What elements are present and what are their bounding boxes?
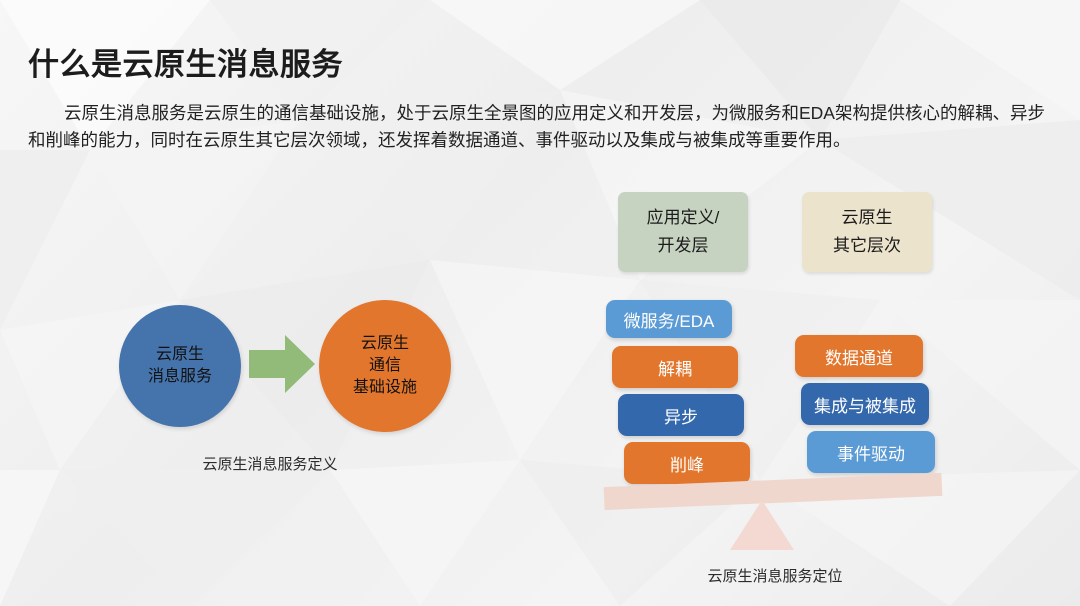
circle-target-line-2: 通信	[353, 355, 417, 377]
bar-microservice-eda: 微服务/EDA	[606, 300, 732, 338]
circle-cloud-native-message-service: 云原生 消息服务	[119, 305, 241, 427]
layer-box-cloud-native-other: 云原生 其它层次	[802, 192, 932, 272]
circle-target-line-1: 云原生	[353, 333, 417, 355]
circle-communication-infrastructure: 云原生 通信 基础设施	[319, 300, 451, 432]
definition-diagram-caption: 云原生消息服务定义	[110, 453, 430, 474]
seesaw-fulcrum-triangle	[730, 500, 794, 550]
circle-source-line-1: 云原生	[148, 344, 212, 366]
bar-decoupling: 解耦	[612, 346, 738, 388]
circle-source-line-2: 消息服务	[148, 366, 212, 388]
body-paragraph: 云原生消息服务是云原生的通信基础设施，处于云原生全景图的应用定义和开发层，为微服…	[28, 100, 1048, 154]
layer-other-line-1: 云原生	[842, 204, 893, 232]
layer-box-app-definition: 应用定义/ 开发层	[618, 192, 748, 272]
positioning-diagram-caption: 云原生消息服务定位	[620, 565, 930, 586]
page-title: 什么是云原生消息服务	[28, 39, 343, 84]
positioning-diagram: 应用定义/ 开发层 云原生 其它层次 微服务/EDA 解耦 异步 削峰 数据通道…	[590, 180, 1060, 600]
bar-peak-shaving: 削峰	[624, 442, 750, 484]
bar-integration: 集成与被集成	[801, 383, 929, 425]
bar-async: 异步	[618, 394, 744, 436]
bar-data-pipeline: 数据通道	[795, 335, 923, 377]
slide-canvas: 什么是云原生消息服务 云原生消息服务是云原生的通信基础设施，处于云原生全景图的应…	[0, 0, 1080, 606]
arrow-right-icon	[249, 333, 315, 395]
circle-target-line-3: 基础设施	[353, 377, 417, 399]
bar-event-driven: 事件驱动	[807, 431, 935, 473]
layer-other-line-2: 其它层次	[833, 232, 901, 260]
definition-diagram: 云原生 消息服务 云原生 通信 基础设施 云原生消息服务定义	[110, 295, 470, 485]
layer-app-line-1: 应用定义/	[647, 204, 720, 232]
layer-app-line-2: 开发层	[658, 232, 709, 260]
